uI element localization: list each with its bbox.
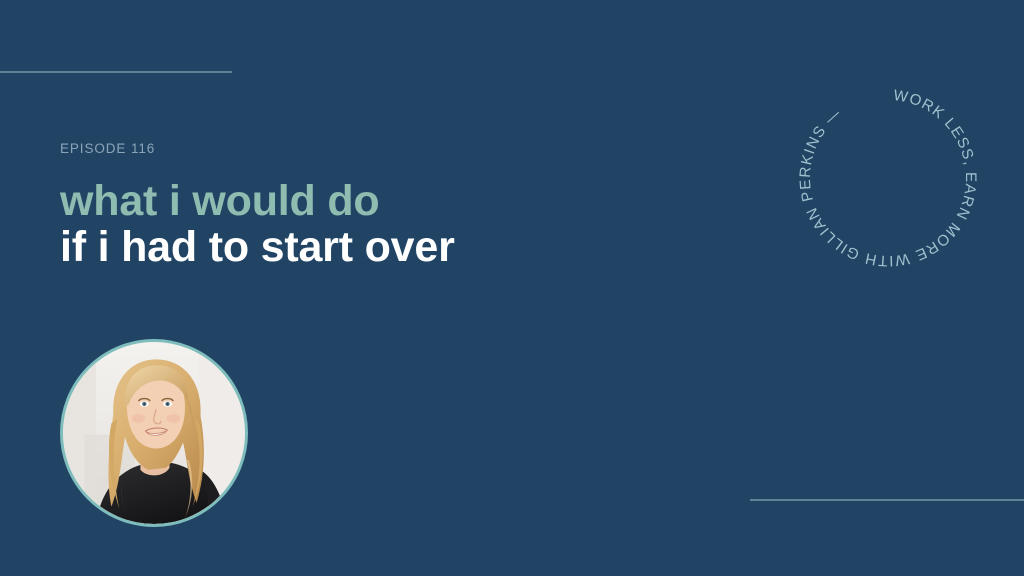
episode-title-line-1: what i would do (60, 178, 580, 224)
brand-circular-text: WORK LESS, EARN MORE WITH GILLIAN PERKIN… (797, 87, 979, 269)
avatar-portrait-image (63, 342, 245, 524)
episode-title-line-2: if i had to start over (60, 224, 580, 270)
episode-number-label: EPISODE 116 (60, 142, 580, 156)
avatar (60, 339, 248, 527)
brand-circular-textpath: WORK LESS, EARN MORE WITH GILLIAN PERKIN… (797, 87, 979, 269)
top-left-divider (0, 71, 232, 73)
brand-circular-badge: WORK LESS, EARN MORE WITH GILLIAN PERKIN… (788, 78, 988, 278)
podcast-episode-slide: EPISODE 116 what i would do if i had to … (0, 0, 1024, 576)
bottom-right-divider (750, 499, 1024, 501)
episode-text-block: EPISODE 116 what i would do if i had to … (60, 142, 580, 270)
